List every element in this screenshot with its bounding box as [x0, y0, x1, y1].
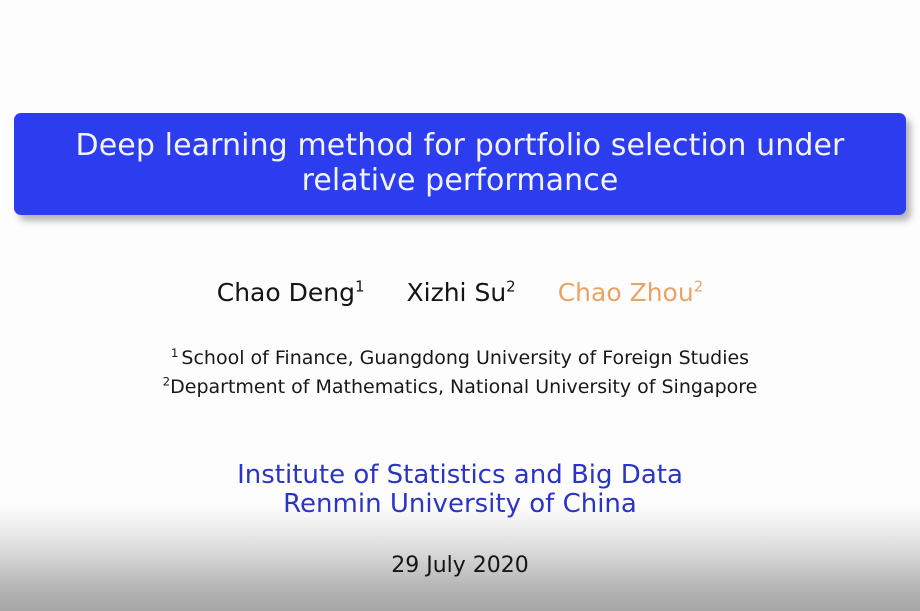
- author-3: Chao Zhou2: [558, 278, 704, 307]
- institute-line-1: Institute of Statistics and Big Data: [0, 461, 920, 490]
- title-line-2: relative performance: [76, 164, 845, 199]
- presentation-date: 29 July 2020: [0, 553, 920, 578]
- title-line-1: Deep learning method for portfolio selec…: [76, 129, 845, 164]
- presentation-title-slide: Deep learning method for portfolio selec…: [0, 0, 920, 611]
- institute-line-2: Renmin University of China: [0, 490, 920, 519]
- author-3-marker: 2: [694, 278, 704, 296]
- affiliation-list: 1School of Finance, Guangdong University…: [0, 344, 920, 402]
- author-2-name: Xizhi Su: [407, 278, 507, 307]
- author-1-marker: 1: [355, 278, 365, 296]
- author-1-name: Chao Deng: [217, 278, 355, 307]
- author-list: Chao Deng1Xizhi Su2Chao Zhou2: [0, 278, 920, 307]
- affiliation-1: 1School of Finance, Guangdong University…: [0, 344, 920, 373]
- page-title: Deep learning method for portfolio selec…: [58, 129, 863, 199]
- author-2: Xizhi Su2: [407, 278, 516, 307]
- author-1: Chao Deng1: [217, 278, 365, 307]
- institute-block: Institute of Statistics and Big Data Ren…: [0, 461, 920, 520]
- affiliation-1-text: School of Finance, Guangdong University …: [181, 347, 749, 369]
- affiliation-1-marker: 1: [171, 346, 179, 360]
- title-banner: Deep learning method for portfolio selec…: [14, 113, 906, 215]
- affiliation-2: 2Department of Mathematics, National Uni…: [0, 373, 920, 402]
- author-3-name: Chao Zhou: [558, 278, 694, 307]
- affiliation-2-text: Department of Mathematics, National Univ…: [170, 376, 757, 398]
- author-2-marker: 2: [506, 278, 516, 296]
